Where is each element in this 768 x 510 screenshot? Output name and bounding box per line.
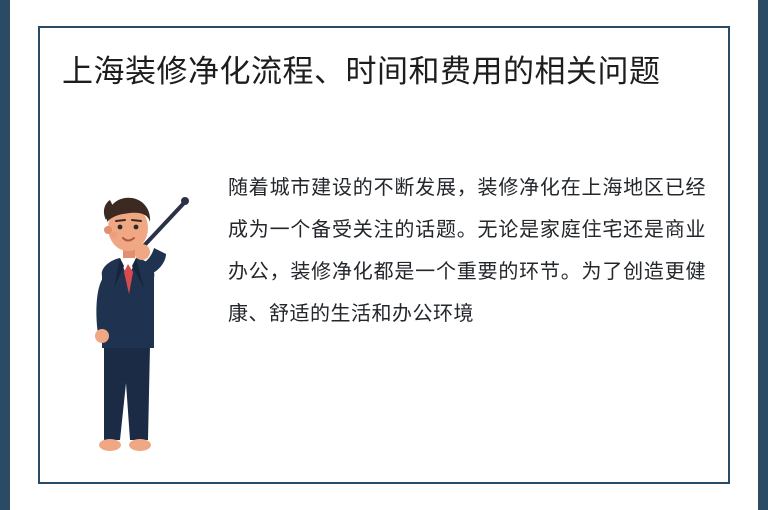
- article-card: 上海装修净化流程、时间和费用的相关问题: [0, 0, 768, 510]
- article-body: 随着城市建设的不断发展，装修净化在上海地区已经成为一个备受关注的话题。无论是家庭…: [228, 160, 706, 334]
- article-frame: 上海装修净化流程、时间和费用的相关问题: [38, 26, 730, 484]
- article-content: 随着城市建设的不断发展，装修净化在上海地区已经成为一个备受关注的话题。无论是家庭…: [62, 160, 706, 472]
- businessman-illustration: [62, 168, 222, 468]
- page-title: 上海装修净化流程、时间和费用的相关问题: [62, 50, 706, 94]
- businessman-icon: [62, 168, 222, 468]
